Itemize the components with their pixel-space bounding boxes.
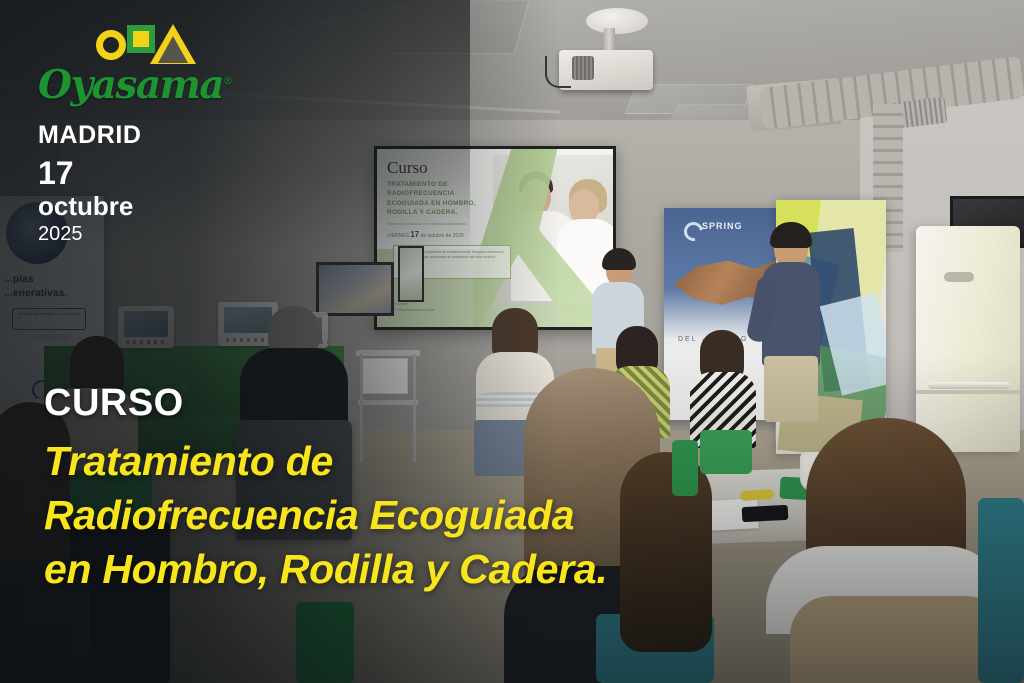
event-year: 2025 (38, 224, 268, 244)
brand-block: Oyasama® MADRID 17 octubre 2025 (38, 24, 268, 244)
title-line-2: Radiofrecuencia Ecoguiada (44, 488, 744, 542)
triangle-inner-icon (158, 36, 188, 63)
title-line-1: Tratamiento de (44, 434, 744, 488)
event-city: MADRID (38, 123, 268, 148)
refrigerator-brand-logo (944, 272, 974, 282)
title-line-3: en Hombro, Rodilla y Cadera. (44, 542, 744, 596)
registered-mark: ® (223, 76, 232, 87)
title-kicker: CURSO (44, 384, 744, 422)
wordmark-text: Oyasama (38, 62, 223, 108)
event-month: octubre (38, 193, 268, 219)
event-day: 17 (38, 157, 268, 189)
oyasama-wordmark: Oyasama® (38, 66, 268, 105)
event-poster: Curso TRATAMIENTO DE RADIOFRECUENCIA ECO… (0, 0, 1024, 683)
projector-ceiling-mount (586, 8, 648, 34)
circle-icon (96, 30, 126, 60)
main-title-block: CURSO Tratamiento de Radiofrecuencia Eco… (44, 384, 744, 596)
projector-lens (572, 56, 594, 80)
spring-logo-text: SPRING (702, 221, 743, 231)
